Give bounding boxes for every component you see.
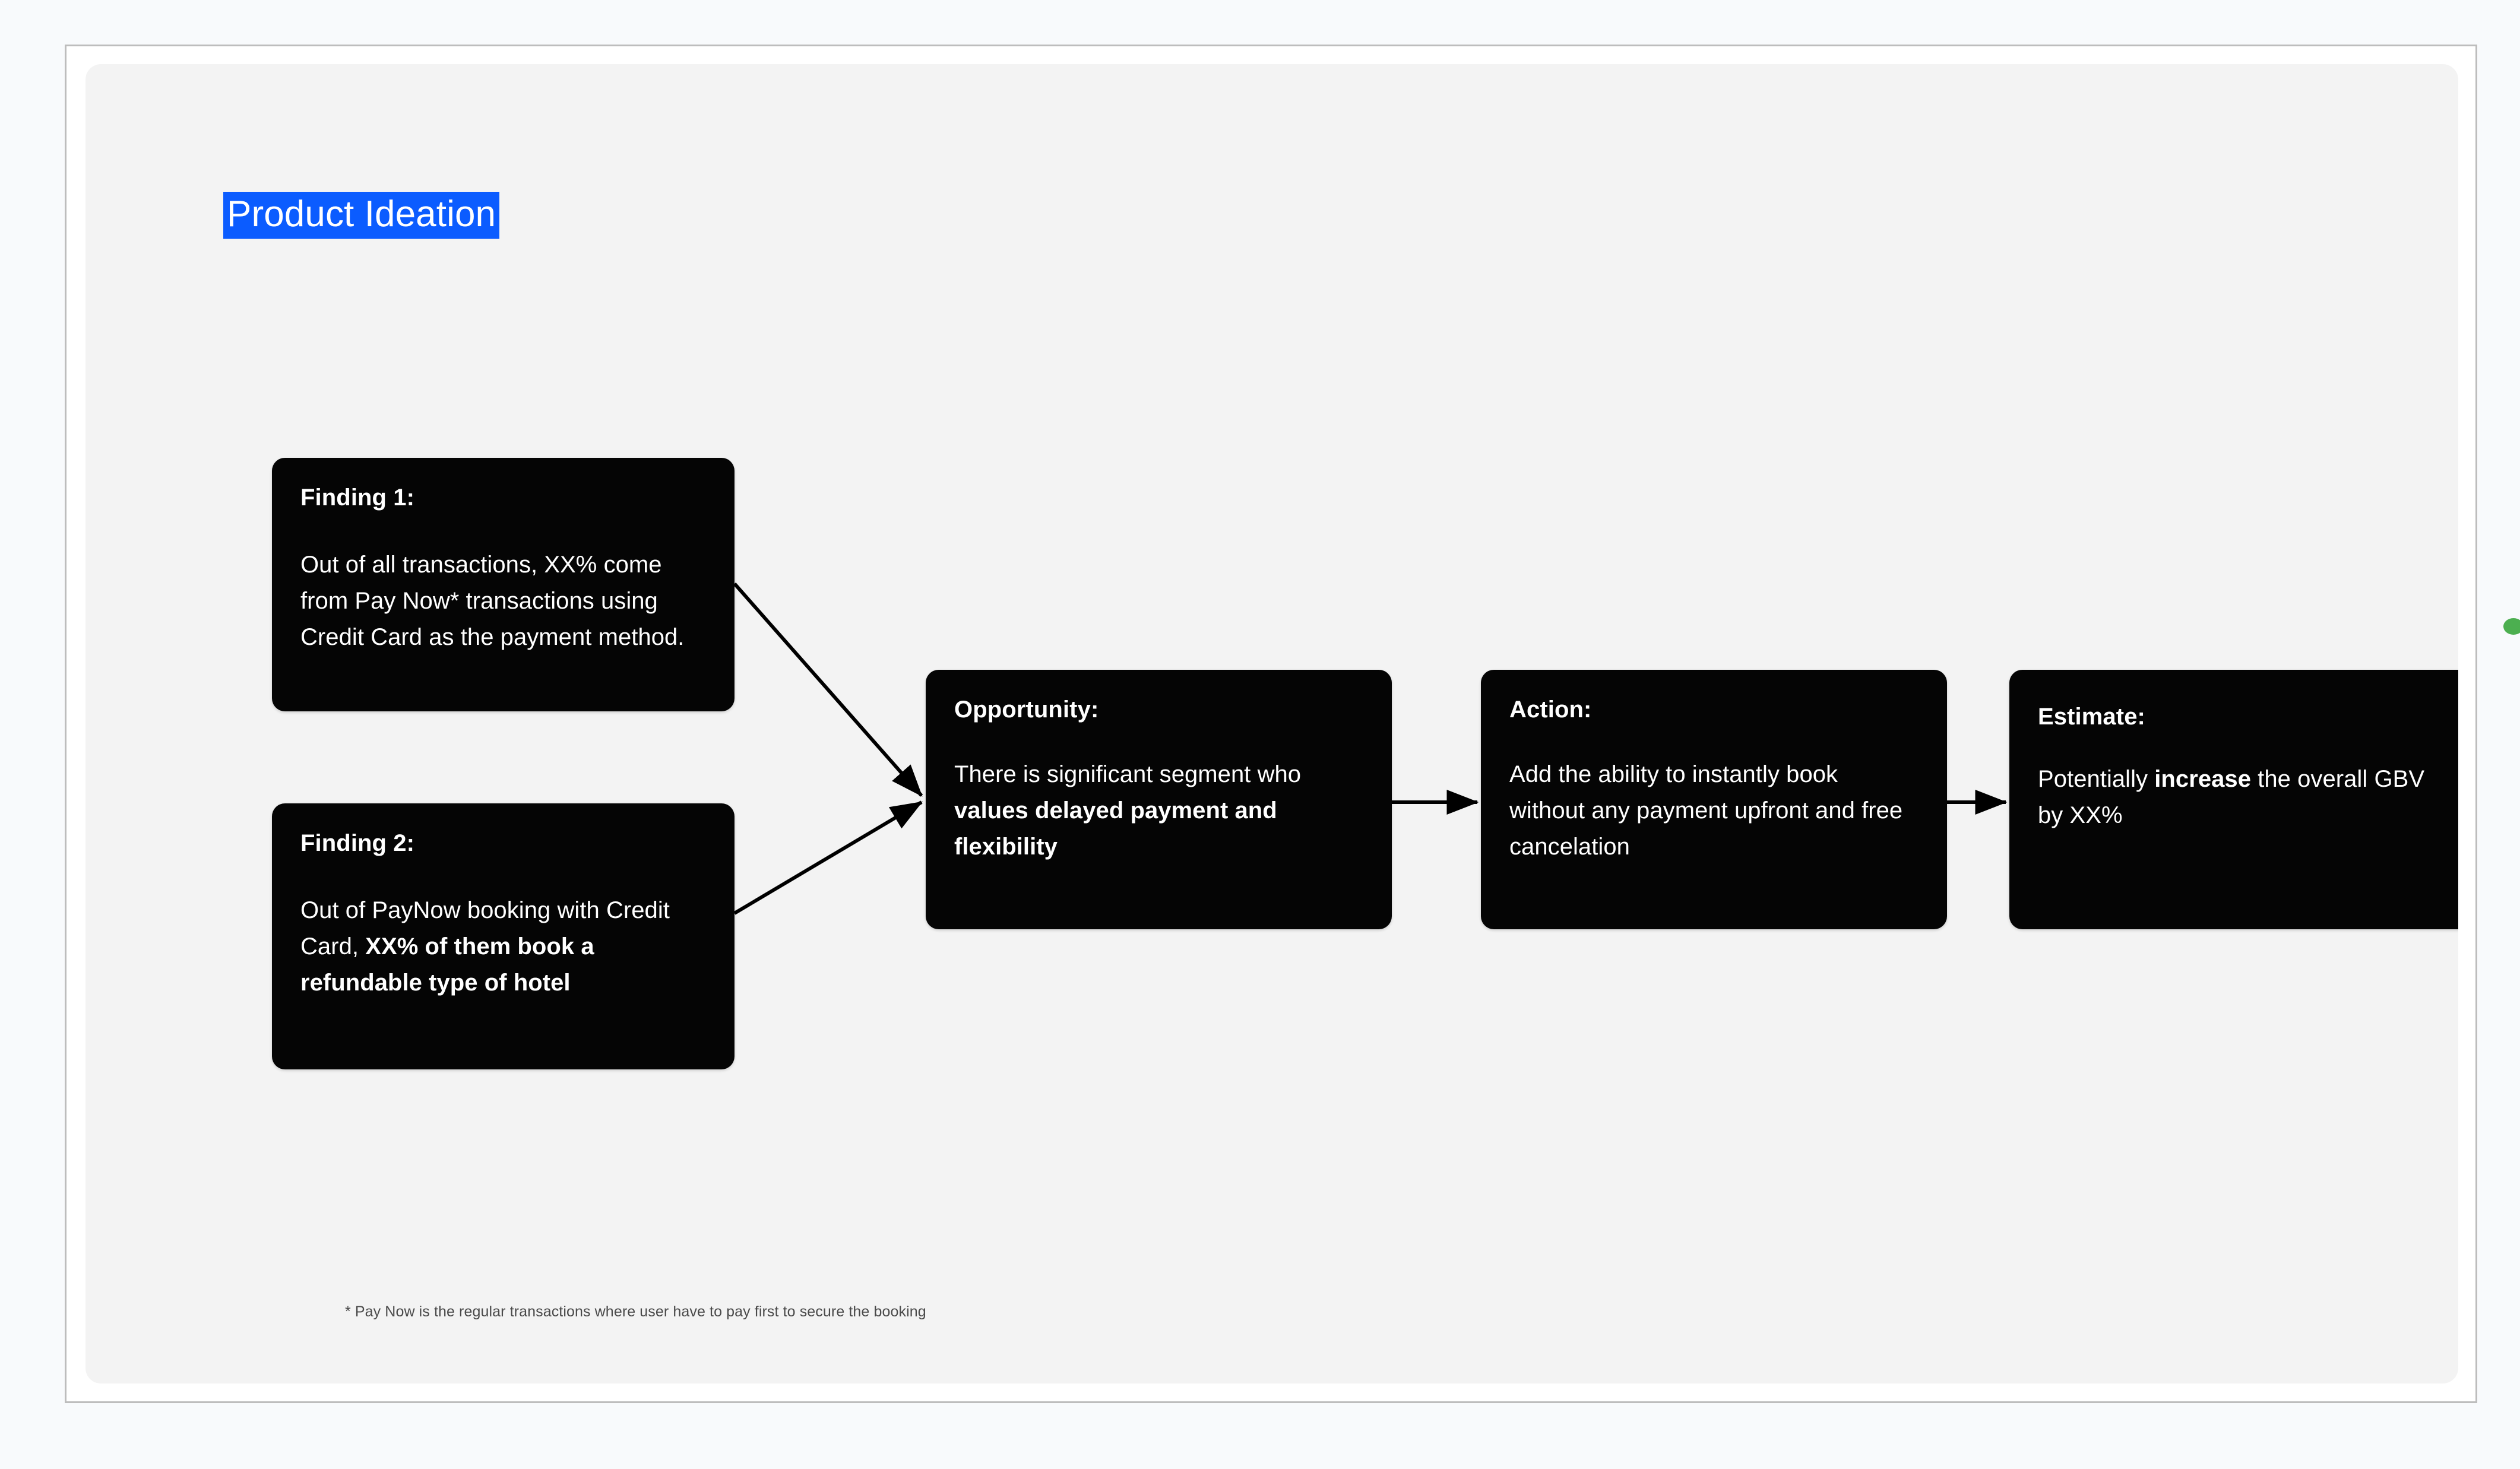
- card-estimate-body: Potentially increase the overall GBV by …: [2038, 761, 2447, 834]
- card-opportunity-heading: Opportunity:: [954, 695, 1363, 724]
- card-estimate-inner: Estimate: Potentially increase the overa…: [2009, 670, 2458, 859]
- card-action-inner: Action: Add the ability to instantly boo…: [1481, 670, 1947, 889]
- card-finding-2-body: Out of PayNow booking with Credit Card, …: [300, 892, 706, 1001]
- card-opportunity-inner: Opportunity: There is significant segmen…: [926, 670, 1392, 889]
- card-finding-1[interactable]: Finding 1: Out of all transactions, XX% …: [272, 458, 735, 711]
- footnote: * Pay Now is the regular transactions wh…: [345, 1303, 926, 1321]
- card-finding-1-heading: Finding 1:: [300, 483, 706, 512]
- card-opportunity[interactable]: Opportunity: There is significant segmen…: [926, 670, 1392, 929]
- page-title[interactable]: Product Ideation: [223, 192, 499, 239]
- card-finding-1-inner: Finding 1: Out of all transactions, XX% …: [272, 458, 735, 680]
- presence-cursor-dot[interactable]: [2503, 618, 2520, 635]
- page-title-wrapper: Product Ideation: [223, 192, 499, 239]
- card-action-body: Add the ability to instantly book withou…: [1509, 756, 1919, 865]
- card-finding-1-body: Out of all transactions, XX% come from P…: [300, 547, 706, 655]
- card-finding-2[interactable]: Finding 2: Out of PayNow booking with Cr…: [272, 803, 735, 1069]
- card-action-heading: Action:: [1509, 695, 1919, 724]
- connector-finding1-opportunity: [735, 584, 922, 796]
- diagram-canvas[interactable]: Product Ideation Finding 1: Out of all t…: [86, 64, 2458, 1383]
- card-action[interactable]: Action: Add the ability to instantly boo…: [1481, 670, 1947, 929]
- card-estimate-heading: Estimate:: [2038, 702, 2447, 732]
- connector-finding2-opportunity: [735, 802, 922, 913]
- page-frame: Product Ideation Finding 1: Out of all t…: [65, 45, 2477, 1403]
- card-estimate[interactable]: Estimate: Potentially increase the overa…: [2009, 670, 2458, 929]
- card-opportunity-body: There is significant segment who values …: [954, 756, 1363, 865]
- card-finding-2-inner: Finding 2: Out of PayNow booking with Cr…: [272, 803, 735, 1025]
- card-finding-2-heading: Finding 2:: [300, 828, 706, 858]
